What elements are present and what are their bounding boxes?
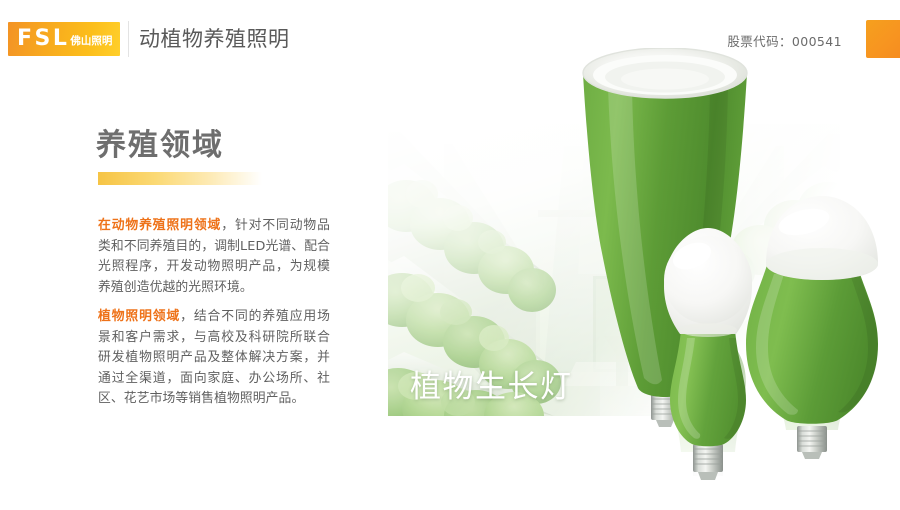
section-title: 养殖领域 [96,126,334,166]
photo-caption: 植物生长灯 [410,368,573,406]
paragraph-plant-lighting: 植物照明领域，结合不同的养殖应用场景和客户需求，与高校及科研院所联合研发植物照明… [98,307,330,410]
greenhouse-photo: 植物生长灯 [388,124,840,416]
paragraph-list: 在动物养殖照明领域，针对不同动物品类和不同养殖目的，调制LED光谱、配合光照程序… [98,216,330,419]
orange-square-icon [866,20,900,58]
page-title: 动植物养殖照明 [139,25,290,53]
fsl-logo[interactable]: FSL 佛山照明 [8,22,120,56]
logo-fsl-text: FSL [17,28,69,50]
page-header: FSL 佛山照明 动植物养殖照明 股票代码：000541 [0,0,900,78]
stock-code-label: 股票代码：000541 [727,31,842,50]
paragraph-animal-lighting: 在动物养殖照明领域，针对不同动物品类和不同养殖目的，调制LED光谱、配合光照程序… [98,216,330,298]
slide-root: FSL 佛山照明 动植物养殖照明 股票代码：000541 养殖领域 在动物养殖照… [0,0,900,510]
title-underline-bar [98,172,262,185]
logo-chinese-text: 佛山照明 [70,36,112,47]
paragraph-lead: 植物照明领域 [98,309,180,324]
text-column: 养殖领域 在动物养殖照明领域，针对不同动物品类和不同养殖目的，调制LED光谱、配… [96,126,334,166]
header-divider [128,21,129,57]
paragraph-lead: 在动物养殖照明领域 [98,218,221,233]
